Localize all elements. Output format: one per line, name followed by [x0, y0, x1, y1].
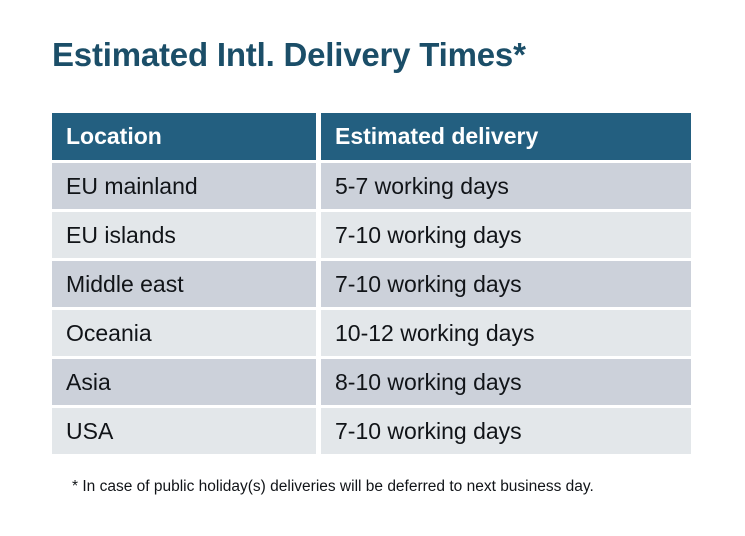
delivery-times-page: Estimated Intl. Delivery Times* Location…: [0, 0, 745, 536]
footnote-text: * In case of public holiday(s) deliverie…: [72, 478, 594, 496]
cell-location: Oceania: [52, 310, 316, 356]
cell-estimated-delivery: 7-10 working days: [321, 261, 691, 307]
cell-location: EU mainland: [52, 163, 316, 209]
estimated-delivery-times-table: Location Estimated delivery EU mainland …: [52, 113, 691, 454]
column-header-estimated-delivery: Estimated delivery: [321, 113, 691, 160]
cell-estimated-delivery: 5-7 working days: [321, 163, 691, 209]
table-header-row: Location Estimated delivery: [52, 113, 691, 160]
table-row: EU mainland 5-7 working days: [52, 163, 691, 209]
cell-estimated-delivery: 10-12 working days: [321, 310, 691, 356]
cell-estimated-delivery: 7-10 working days: [321, 408, 691, 454]
cell-location: EU islands: [52, 212, 316, 258]
table-row: Middle east 7-10 working days: [52, 261, 691, 307]
cell-estimated-delivery: 7-10 working days: [321, 212, 691, 258]
column-header-location: Location: [52, 113, 316, 160]
cell-location: USA: [52, 408, 316, 454]
page-title: Estimated Intl. Delivery Times*: [52, 36, 526, 74]
cell-estimated-delivery: 8-10 working days: [321, 359, 691, 405]
cell-location: Asia: [52, 359, 316, 405]
cell-location: Middle east: [52, 261, 316, 307]
table-row: EU islands 7-10 working days: [52, 212, 691, 258]
table-row: USA 7-10 working days: [52, 408, 691, 454]
table-row: Oceania 10-12 working days: [52, 310, 691, 356]
table-row: Asia 8-10 working days: [52, 359, 691, 405]
